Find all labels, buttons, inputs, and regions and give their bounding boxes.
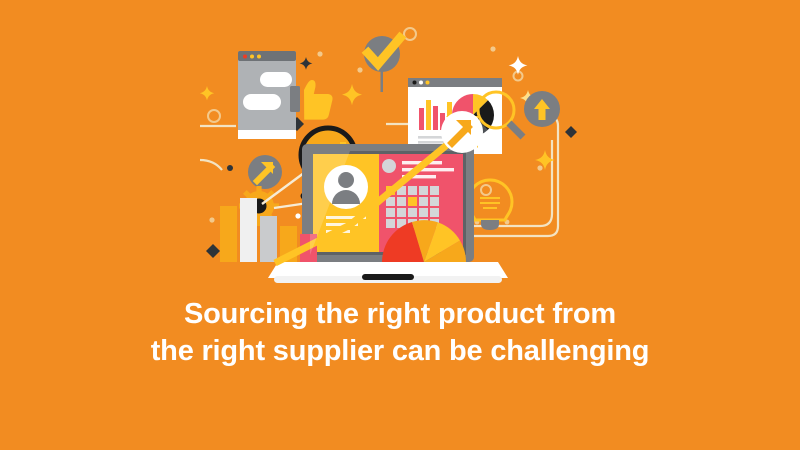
check-badge-icon xyxy=(364,36,400,92)
up-arrow-circle-icon xyxy=(524,91,560,127)
headline-line-1: Sourcing the right product from xyxy=(0,296,800,333)
laptop xyxy=(268,144,508,283)
arrow-circle-icon-top xyxy=(441,111,483,153)
laptop-trackpad xyxy=(362,274,414,280)
thumbs-up-icon xyxy=(290,80,333,120)
page-title: Sourcing the right product from the righ… xyxy=(0,296,800,370)
chat-bubble-right xyxy=(260,72,292,87)
panel-dot xyxy=(382,159,396,173)
headline-line-2: the right supplier can be challenging xyxy=(0,333,800,370)
chat-bubble-left xyxy=(243,94,281,110)
slide-canvas: Sourcing the right product from the righ… xyxy=(0,0,800,450)
business-analytics-illustration xyxy=(200,20,600,290)
chat-window xyxy=(238,51,296,139)
arrow-circle-icon xyxy=(248,155,282,189)
lightbulb-filament xyxy=(480,198,500,208)
